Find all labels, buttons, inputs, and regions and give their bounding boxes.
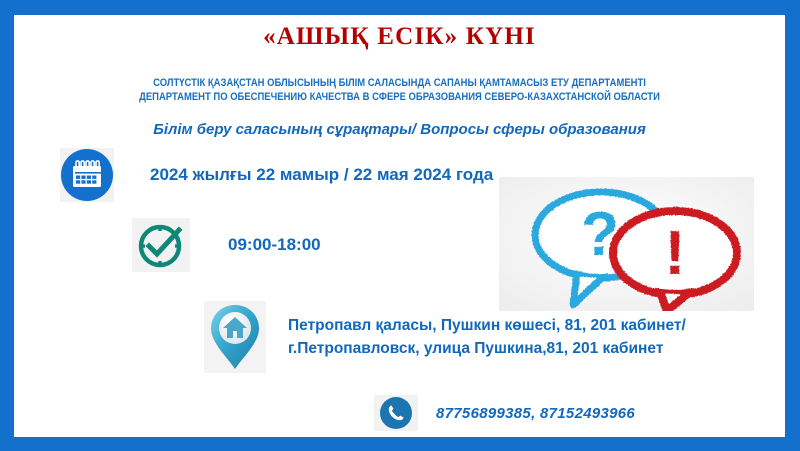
speech-bubbles-svg: ? ! xyxy=(499,177,754,311)
speech-bubbles-image: ? ! xyxy=(499,177,754,311)
info-row-phone: 87756899385, 87152493966 xyxy=(374,395,635,431)
page-title: «АШЫҚ ЕСІК» КҮНІ xyxy=(14,23,785,51)
phone-icon xyxy=(374,395,418,431)
phone-handset-glyph xyxy=(386,403,406,423)
info-row-date: 2024 жылғы 22 мамыр / 22 мая 2024 года xyxy=(60,148,493,202)
poster-frame: «АШЫҚ ЕСІК» КҮНІ СОЛТҮСТІК ҚАЗАҚСТАН ОБЛ… xyxy=(0,0,800,451)
address-line-2: г.Петропавловск, улица Пушкина,81, 201 к… xyxy=(288,337,686,360)
address-block: Петропавл қаласы, Пушкин көшесі, 81, 201… xyxy=(288,314,686,360)
info-row-address: Петропавл қаласы, Пушкин көшесі, 81, 201… xyxy=(204,301,686,373)
department-name-ru: ДЕПАРТАМЕНТ ПО ОБЕСПЕЧЕНИЮ КАЧЕСТВА В СФ… xyxy=(68,91,731,103)
date-value: 2024 жылғы 22 мамыр / 22 мая 2024 года xyxy=(150,165,493,185)
clock-check-icon xyxy=(132,218,190,272)
address-line-1: Петропавл қаласы, Пушкин көшесі, 81, 201… xyxy=(288,314,686,337)
clock-check-glyph xyxy=(136,220,186,270)
map-pin-home-icon xyxy=(204,301,266,373)
calendar-glyph xyxy=(70,158,104,192)
poster-page: «АШЫҚ ЕСІК» КҮНІ СОЛТҮСТІК ҚАЗАҚСТАН ОБЛ… xyxy=(14,15,785,437)
calendar-icon xyxy=(60,148,114,202)
phone-value: 87756899385, 87152493966 xyxy=(436,405,635,422)
map-pin-home-glyph xyxy=(206,302,264,372)
info-row-time: 09:00-18:00 xyxy=(132,218,321,272)
department-name-kk: СОЛТҮСТІК ҚАЗАҚСТАН ОБЛЫСЫНЫҢ БІЛІМ САЛА… xyxy=(68,77,731,89)
time-value: 09:00-18:00 xyxy=(228,235,321,255)
subtitle-education-questions: Білім беру саласының сұрақтары/ Вопросы … xyxy=(14,121,785,138)
svg-text:!: ! xyxy=(665,219,686,288)
